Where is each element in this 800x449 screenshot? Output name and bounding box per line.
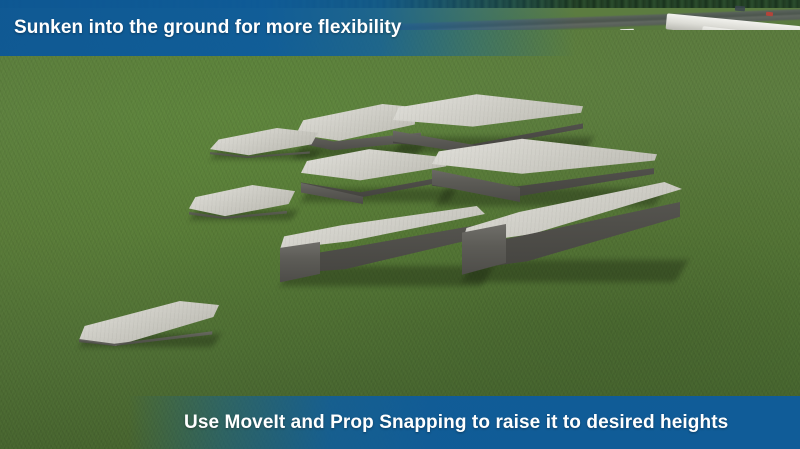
game-screenshot: Sunken into the ground for more flexibil… — [0, 0, 800, 449]
prop-ramp-low-middle[interactable] — [301, 148, 449, 202]
vehicle-red-1 — [766, 12, 773, 17]
caption-top-text: Sunken into the ground for more flexibil… — [14, 17, 401, 39]
game-viewport[interactable] — [0, 0, 800, 449]
prop-slab-flat-bottom-left[interactable] — [79, 300, 219, 350]
vehicle-dark-3 — [735, 6, 745, 12]
prop-ramp-tall-lower-right[interactable] — [462, 182, 682, 282]
caption-banner-bottom: Use MoveIt and Prop Snapping to raise it… — [128, 396, 800, 449]
caption-banner-top: Sunken into the ground for more flexibil… — [0, 0, 576, 56]
prop-ramp-tall-lower-middle[interactable] — [280, 206, 485, 286]
caption-bottom-text: Use MoveIt and Prop Snapping to raise it… — [184, 412, 728, 434]
